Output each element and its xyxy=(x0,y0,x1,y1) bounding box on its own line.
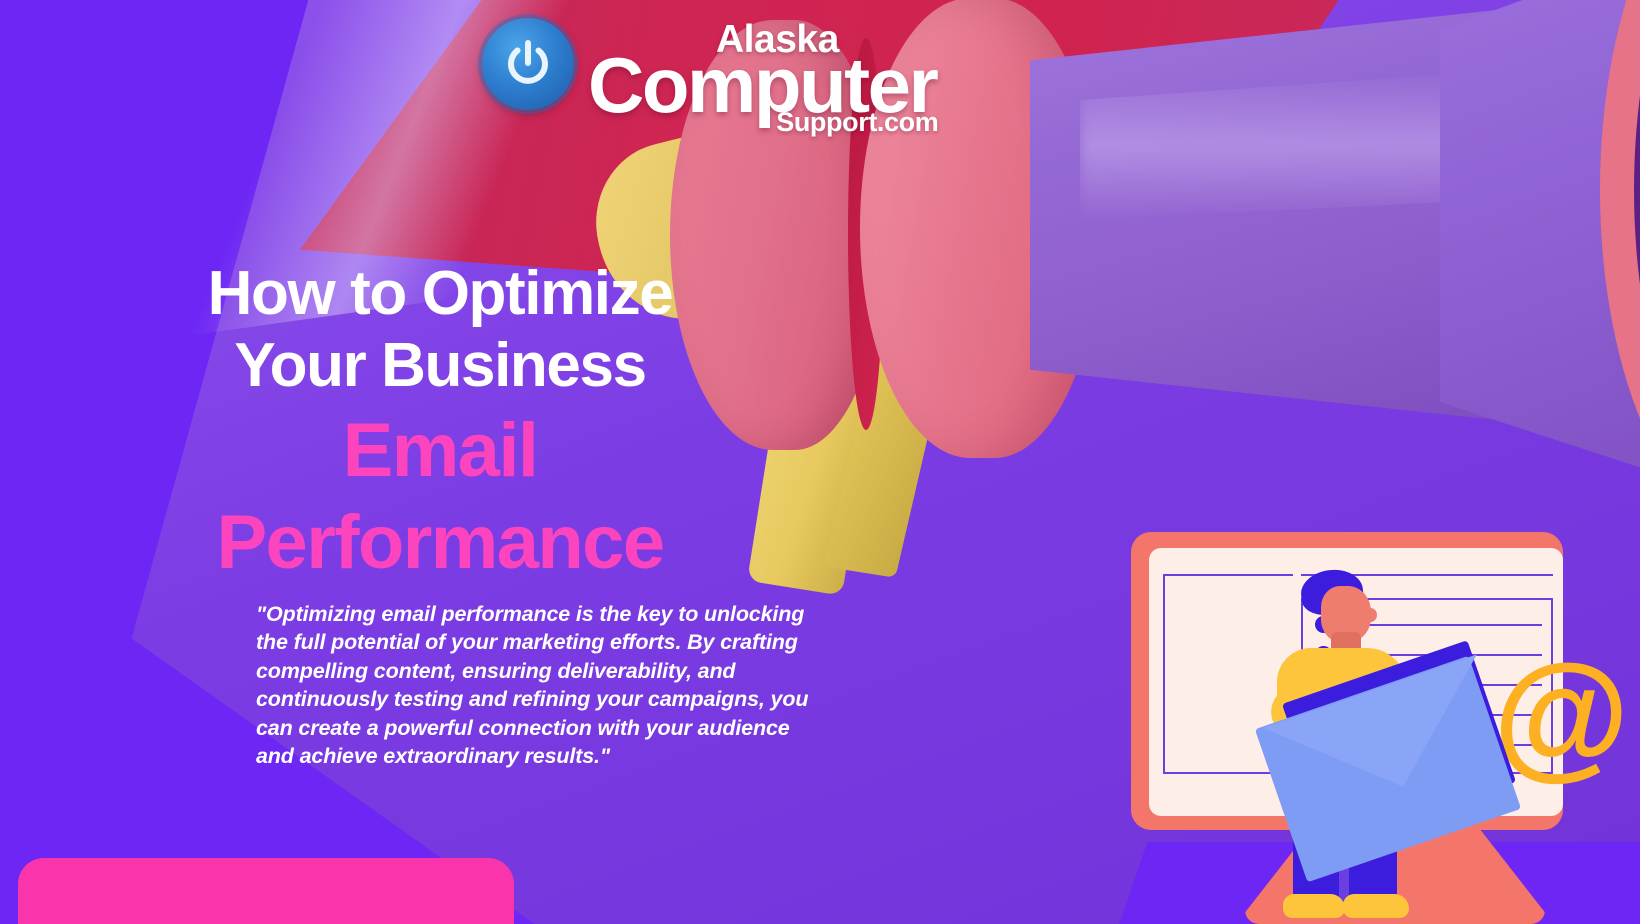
poster-canvas: Alaska Computer Support.com How to Optim… xyxy=(0,0,1640,924)
email-illustration: @ xyxy=(1125,512,1640,924)
bullet-line xyxy=(1342,624,1542,626)
brand-wordmark: Alaska Computer Support.com xyxy=(588,18,936,118)
person-shoe-left xyxy=(1283,894,1345,918)
quote-text: "Optimizing email performance is the key… xyxy=(256,600,816,770)
headline-line-1: How to Optimize xyxy=(60,258,820,330)
headline-block: How to Optimize Your Business Email Perf… xyxy=(60,258,820,587)
bottom-pink-bar xyxy=(18,858,514,924)
person-ear xyxy=(1364,608,1377,622)
at-sign-icon: @ xyxy=(1493,644,1630,784)
person-shoe-right xyxy=(1343,894,1409,918)
brand-logo[interactable]: Alaska Computer Support.com xyxy=(482,18,936,118)
headline-line-4: Performance xyxy=(60,500,820,587)
headline-line-2: Your Business xyxy=(60,330,820,402)
brand-line-support: Support.com xyxy=(776,107,938,138)
power-button-icon xyxy=(482,18,574,110)
headline-line-3: Email xyxy=(60,408,820,495)
